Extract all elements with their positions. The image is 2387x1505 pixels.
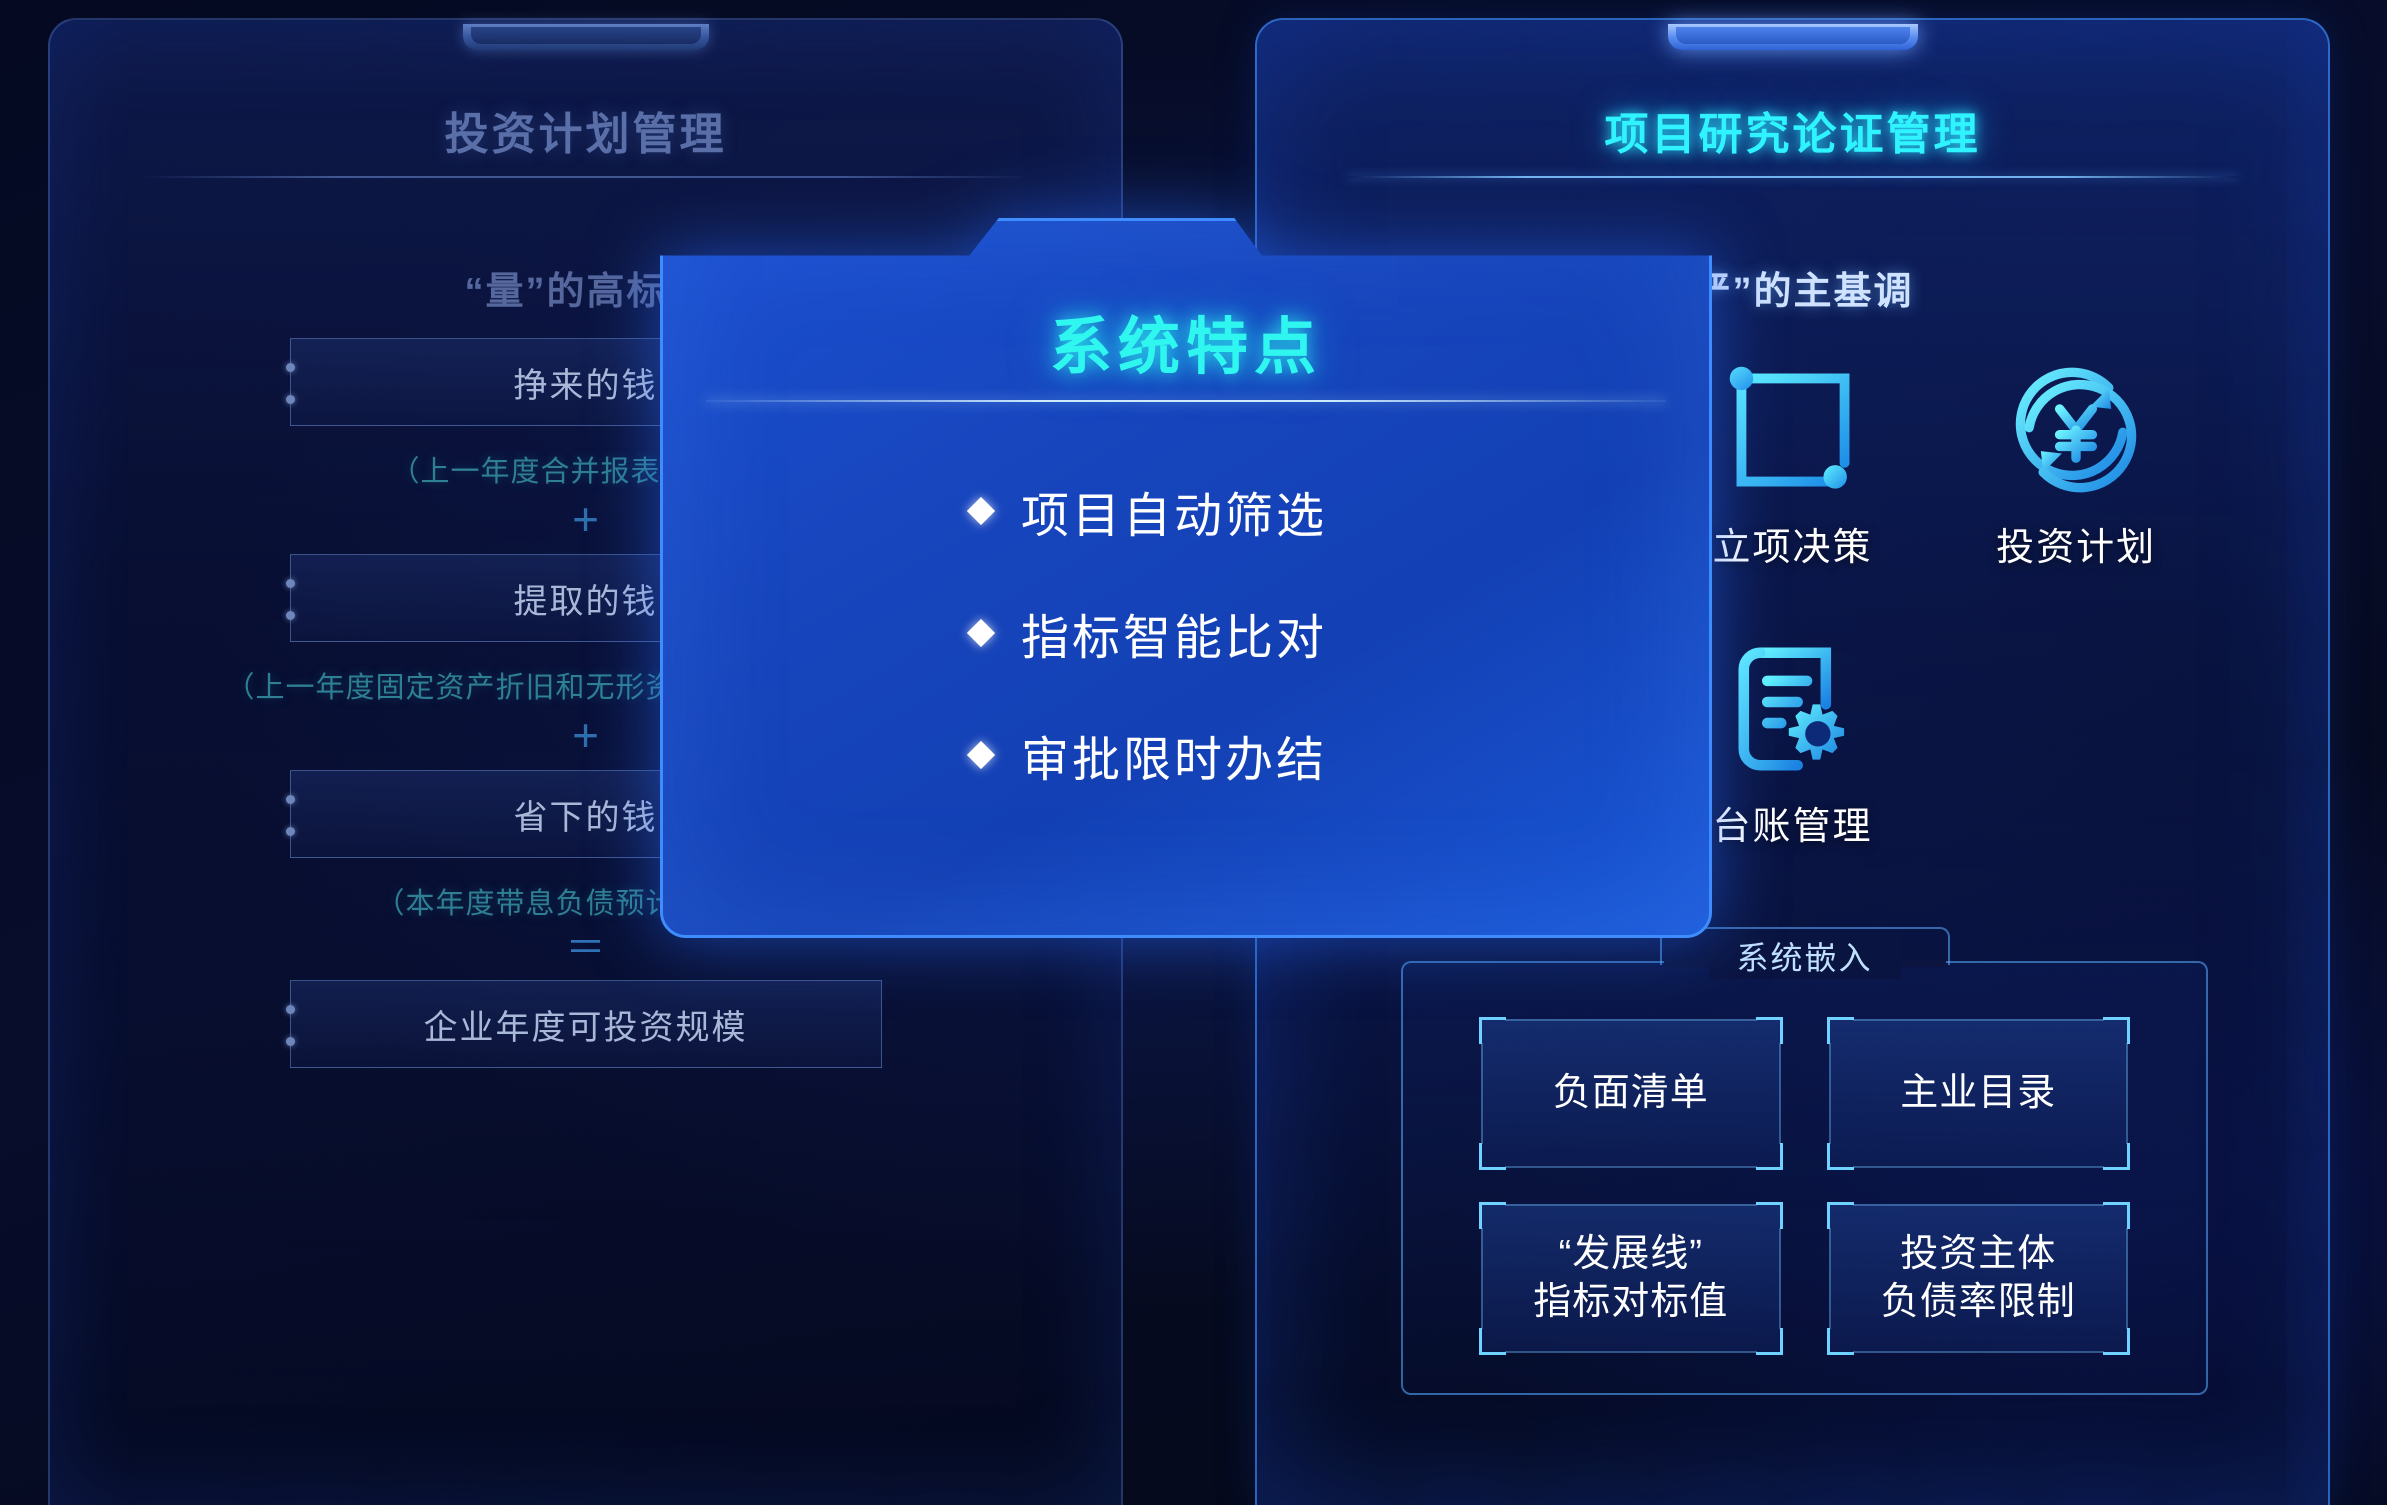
- corner-bracket-icon: [1756, 1143, 1783, 1170]
- diamond-bullet-icon: [967, 741, 995, 769]
- node-dot-icon: [286, 1005, 295, 1014]
- tile-edge: [1505, 1351, 1757, 1353]
- tile-edge: [1853, 1351, 2105, 1353]
- diamond-bullet-icon: [967, 497, 995, 525]
- feature-card-divider: [706, 400, 1666, 402]
- tile-edge: [1481, 1228, 1483, 1329]
- feature-bullet-item[interactable]: 指标智能比对: [971, 598, 1401, 668]
- diamond-bullet-icon: [967, 619, 995, 647]
- corner-bracket-icon: [1479, 1202, 1506, 1229]
- tile-edge: [1853, 1204, 2105, 1206]
- module-tile-label: 投资计划: [1934, 516, 2218, 571]
- corner-bracket-icon: [2103, 1143, 2130, 1170]
- feature-bullet-item[interactable]: 审批限时办结: [971, 720, 1401, 790]
- feature-bullet-item[interactable]: 项目自动筛选: [971, 476, 1401, 546]
- tile-edge: [2126, 1043, 2128, 1144]
- corner-bracket-icon: [1756, 1017, 1783, 1044]
- corner-bracket-icon: [1756, 1202, 1783, 1229]
- embed-tile-label: 负面清单: [1553, 1070, 1709, 1118]
- formula-box-result[interactable]: 企业年度可投资规模: [290, 980, 882, 1068]
- module-tile-spacer: [1934, 629, 2218, 850]
- node-dot-icon: [286, 795, 295, 804]
- tile-edge: [1853, 1019, 2105, 1021]
- node-dot-icon: [286, 611, 295, 620]
- embed-tile-label-line2: 指标对标值: [1533, 1279, 1728, 1327]
- formula-box-label: 省下的钱: [514, 790, 658, 839]
- embed-tile-label-line2: 负债率限制: [1881, 1279, 2076, 1327]
- corner-bracket-icon: [1827, 1143, 1854, 1170]
- left-title-divider: [140, 176, 1031, 178]
- formula-box-label: 企业年度可投资规模: [424, 1000, 748, 1049]
- corner-bracket-icon: [2103, 1202, 2130, 1229]
- tile-edge: [1505, 1166, 1757, 1168]
- tile-edge: [1505, 1019, 1757, 1021]
- corner-bracket-icon: [1479, 1017, 1506, 1044]
- corner-bracket-icon: [1479, 1143, 1506, 1170]
- tile-edge: [1779, 1228, 1781, 1329]
- tile-edge: [1481, 1043, 1483, 1144]
- left-panel-title: 投资计划管理: [50, 98, 1121, 162]
- system-embed-legend: 系统嵌入: [1708, 933, 1900, 979]
- corner-bracket-icon: [1827, 1017, 1854, 1044]
- feature-card-title: 系统特点: [660, 296, 1712, 386]
- embed-tile-development-line[interactable]: “发展线” 指标对标值: [1481, 1204, 1781, 1353]
- formula-box-label: 提取的钱: [514, 574, 658, 623]
- tile-edge: [2126, 1228, 2128, 1329]
- tile-edge: [1829, 1228, 1831, 1329]
- node-dot-icon: [286, 363, 295, 372]
- corner-bracket-icon: [2103, 1328, 2130, 1355]
- node-dot-icon: [286, 579, 295, 588]
- right-panel-title: 项目研究论证管理: [1257, 98, 2328, 162]
- embed-tile-negative-list[interactable]: 负面清单: [1481, 1019, 1781, 1168]
- tile-edge: [1505, 1204, 1757, 1206]
- embed-tile-main-business-catalog[interactable]: 主业目录: [1829, 1019, 2129, 1168]
- corner-bracket-icon: [2103, 1017, 2130, 1044]
- panel-handle-right: [1668, 24, 1918, 50]
- feature-bullet-list: 项目自动筛选 指标智能比对 审批限时办结: [660, 476, 1712, 790]
- embed-tile-label: 主业目录: [1900, 1070, 2056, 1118]
- embed-tile-label-line1: 投资主体: [1881, 1231, 2076, 1279]
- embed-tile-label-line1: “发展线”: [1533, 1231, 1728, 1279]
- corner-bracket-icon: [1827, 1202, 1854, 1229]
- right-title-divider: [1347, 176, 2238, 178]
- node-dot-icon: [286, 1037, 295, 1046]
- embed-tile-investor-debt-limit[interactable]: 投资主体 负债率限制: [1829, 1204, 2129, 1353]
- module-tile-investment-plan[interactable]: 投资计划: [1934, 350, 2218, 571]
- corner-bracket-icon: [1756, 1328, 1783, 1355]
- feature-bullet-label: 审批限时办结: [1021, 720, 1327, 790]
- tile-edge: [1853, 1166, 2105, 1168]
- node-dot-icon: [286, 827, 295, 836]
- node-dot-icon: [286, 395, 295, 404]
- tile-edge: [1829, 1043, 1831, 1144]
- system-embed-tiles: 负面清单 主业目录: [1481, 1019, 2128, 1353]
- formula-box-label: 挣来的钱: [514, 358, 658, 407]
- feature-bullet-label: 项目自动筛选: [1021, 476, 1327, 546]
- system-features-card[interactable]: 系统特点 项目自动筛选 指标智能比对 审批限时办结: [660, 218, 1712, 938]
- feature-bullet-label: 指标智能比对: [1021, 598, 1327, 668]
- tile-edge: [1779, 1043, 1781, 1144]
- corner-bracket-icon: [1827, 1328, 1854, 1355]
- panel-handle-left: [463, 24, 709, 50]
- corner-bracket-icon: [1479, 1328, 1506, 1355]
- yen-refresh-icon: [1934, 350, 2218, 510]
- system-embed-group: 系统嵌入 负面清单 主: [1401, 961, 2208, 1395]
